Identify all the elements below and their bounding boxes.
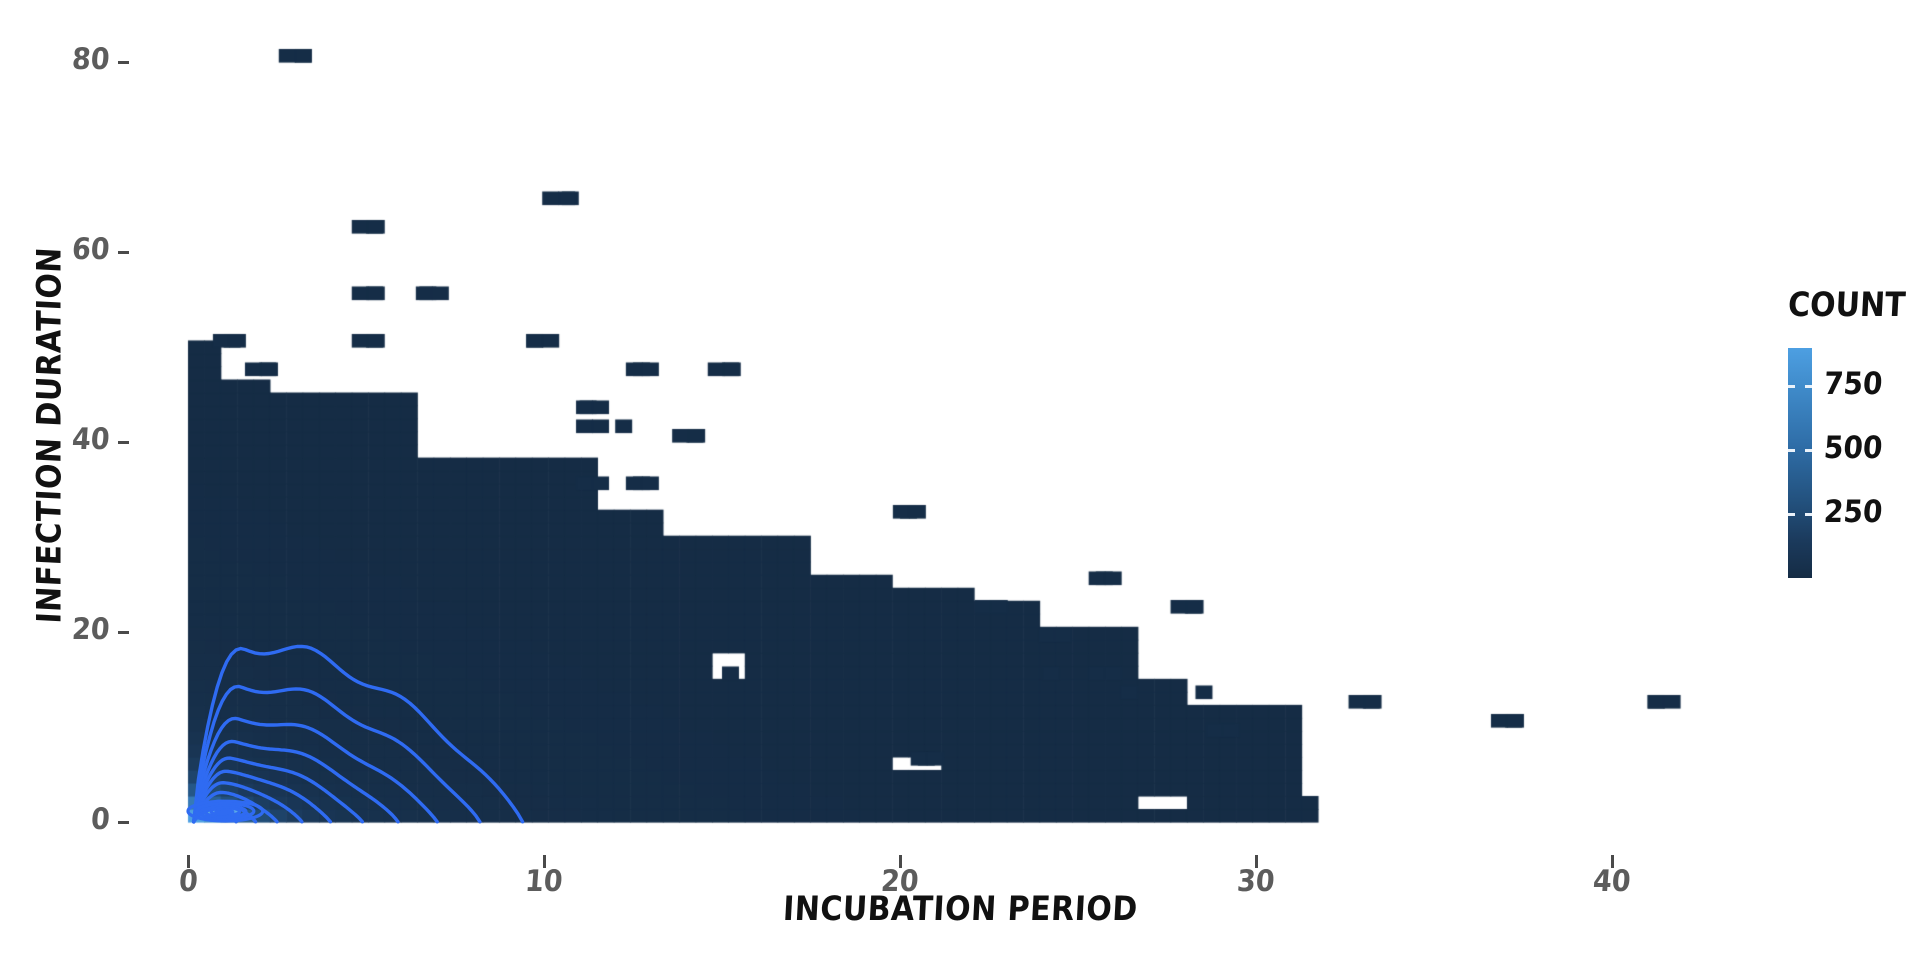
x-tick-label-text: 20: [880, 864, 920, 898]
y-tick-label-text: 0: [90, 802, 111, 836]
colorbar-tick-mark: [1788, 513, 1812, 516]
colorbar-tick-label: 500: [1824, 431, 1882, 464]
y-tick-label-text: 60: [71, 232, 111, 266]
y-tick-mark: [118, 441, 129, 444]
legend-title-text: COUNT: [1787, 286, 1907, 325]
y-tick-label: 20: [40, 614, 110, 645]
colorbar-tick-mark: [1788, 449, 1812, 452]
y-tick-label-text: 40: [71, 422, 111, 456]
y-tick-label: 60: [40, 234, 110, 265]
heatmap-canvas: [0, 0, 1920, 960]
x-tick-label: 40: [1572, 866, 1652, 897]
y-tick-mark: [118, 251, 129, 254]
legend-colorbar: COUNT 250500750: [1780, 288, 1920, 588]
y-tick-mark: [118, 61, 129, 64]
x-tick-label-text: 0: [177, 864, 198, 898]
y-tick-mark: [118, 821, 129, 824]
x-tick-label: 0: [148, 866, 228, 897]
colorbar-tick-label-text: 500: [1823, 430, 1884, 466]
colorbar-tick-label-text: 250: [1823, 493, 1884, 529]
colorbar-gradient: [1788, 348, 1812, 578]
y-tick-label-text: 20: [71, 612, 111, 646]
y-tick-label: 0: [40, 804, 110, 835]
y-tick-label-text: 80: [71, 42, 111, 76]
legend-title: COUNT: [1788, 288, 1905, 323]
x-tick-label-text: 10: [524, 864, 564, 898]
colorbar-tick-label: 250: [1824, 495, 1882, 528]
x-axis-title: INCUBATION PERIOD: [0, 892, 1920, 927]
x-tick-label-text: 40: [1592, 864, 1632, 898]
colorbar-tick-label: 750: [1824, 367, 1882, 400]
x-tick-label: 20: [860, 866, 940, 897]
y-tick-label: 80: [40, 44, 110, 75]
chart-root: INFECTION DURATION 020406080 INCUBATION …: [0, 0, 1920, 960]
x-tick-label: 10: [504, 866, 584, 897]
x-tick-label-text: 30: [1236, 864, 1276, 898]
colorbar-tick-mark: [1788, 385, 1812, 388]
plot-area: [0, 0, 1920, 960]
y-tick-mark: [118, 631, 129, 634]
colorbar-tick-label-text: 750: [1823, 366, 1884, 402]
x-tick-label: 30: [1216, 866, 1296, 897]
y-tick-label: 40: [40, 424, 110, 455]
x-axis-title-text: INCUBATION PERIOD: [782, 890, 1139, 929]
